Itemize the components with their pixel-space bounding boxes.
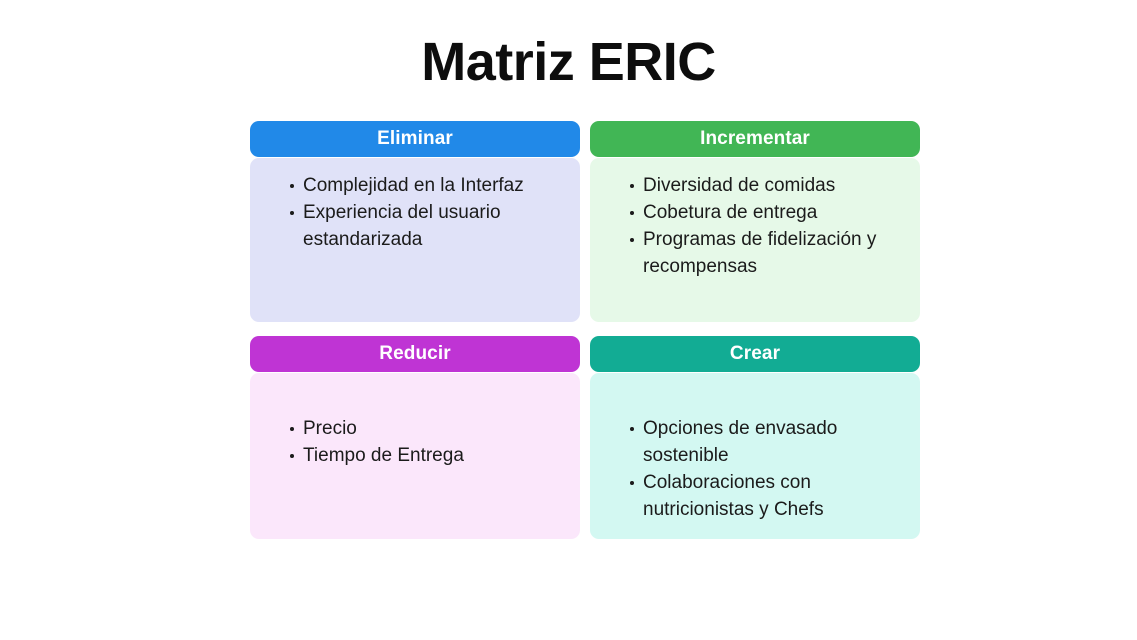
quadrant-eliminar: Eliminar Complejidad en la InterfazExper… (250, 121, 580, 322)
quadrant-list-eliminar: Complejidad en la InterfazExperiencia de… (250, 158, 580, 263)
quadrant-label-incrementar: Incrementar (700, 128, 810, 150)
list-item: Precio (290, 415, 562, 442)
eric-matrix-grid: Eliminar Complejidad en la InterfazExper… (250, 121, 920, 539)
list-item: Opciones de envasado sostenible (630, 415, 902, 469)
quadrant-label-reducir: Reducir (379, 343, 450, 365)
quadrant-header-incrementar[interactable]: Incrementar (590, 121, 920, 157)
quadrant-crear: Crear Opciones de envasado sostenibleCol… (590, 336, 920, 539)
list-item: Complejidad en la Interfaz (290, 172, 562, 199)
quadrant-list-crear: Opciones de envasado sostenibleColaborac… (590, 373, 920, 533)
quadrant-header-crear[interactable]: Crear (590, 336, 920, 372)
quadrant-body-incrementar: Diversidad de comidasCobetura de entrega… (590, 158, 920, 322)
slide-canvas: Matriz ERIC Eliminar Complejidad en la I… (0, 0, 1137, 640)
list-item: Colaboraciones con nutricionistas y Chef… (630, 469, 902, 523)
quadrant-body-reducir: PrecioTiempo de Entrega (250, 373, 580, 539)
quadrant-label-eliminar: Eliminar (377, 128, 453, 150)
list-item: Experiencia del usuario estandarizada (290, 199, 562, 253)
quadrant-reducir: Reducir PrecioTiempo de Entrega (250, 336, 580, 539)
quadrant-body-crear: Opciones de envasado sostenibleColaborac… (590, 373, 920, 539)
quadrant-body-eliminar: Complejidad en la InterfazExperiencia de… (250, 158, 580, 322)
list-item: Programas de fidelización y recompensas (630, 226, 902, 280)
quadrant-header-reducir[interactable]: Reducir (250, 336, 580, 372)
quadrant-label-crear: Crear (730, 343, 780, 365)
page-title: Matriz ERIC (0, 30, 1137, 94)
quadrant-incrementar: Incrementar Diversidad de comidasCobetur… (590, 121, 920, 322)
list-item: Tiempo de Entrega (290, 442, 562, 469)
list-item: Diversidad de comidas (630, 172, 902, 199)
quadrant-header-eliminar[interactable]: Eliminar (250, 121, 580, 157)
quadrant-list-reducir: PrecioTiempo de Entrega (250, 373, 580, 479)
quadrant-list-incrementar: Diversidad de comidasCobetura de entrega… (590, 158, 920, 290)
list-item: Cobetura de entrega (630, 199, 902, 226)
